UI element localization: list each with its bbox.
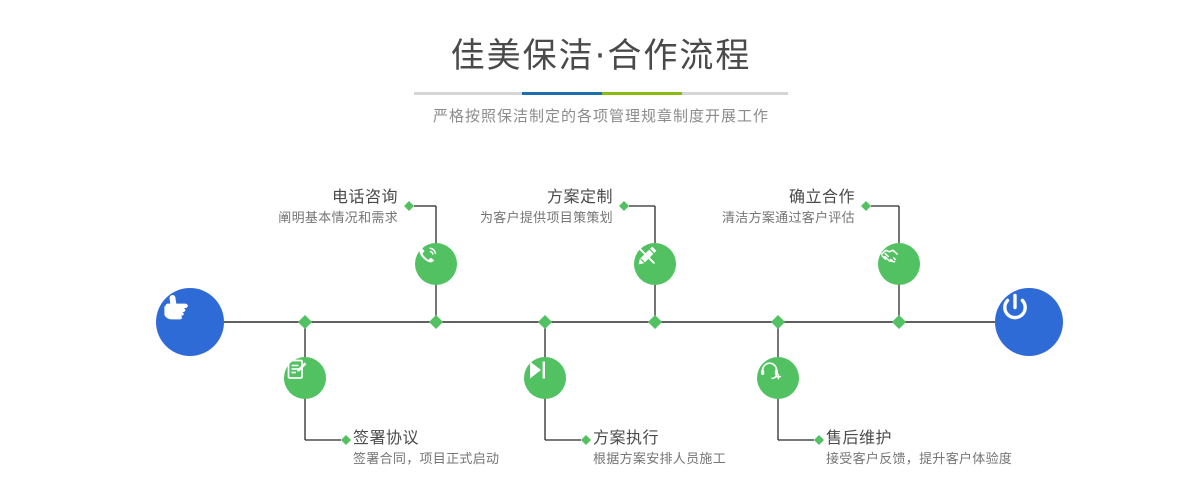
step-desc: 为客户提供项目策策划 [480,209,613,229]
step-label-plan-customization: 方案定制 为客户提供项目策策划 [480,186,613,229]
label-diamond [341,435,351,445]
diamond-marker [429,315,443,329]
step-label-after-sales-support: 售后维护 接受客户反馈，提升客户体验度 [826,427,1012,470]
step-title: 电话咨询 [278,186,398,208]
flow-node-plan-customization[interactable] [634,243,676,285]
step-desc: 根据方案安排人员施工 [593,450,726,470]
flow-diagram: 电话咨询 阐明基本情况和需求 方案定制 为客户提供项目策策划 确立合作 清洁方案… [0,0,1202,502]
step-title: 签署协议 [353,427,499,449]
step-title: 售后维护 [826,427,1012,449]
label-diamond [814,435,824,445]
cooperation-process-infographic: 佳美保洁·合作流程 严格按照保洁制定的各项管理规章制度开展工作 [0,0,1202,502]
step-title: 方案执行 [593,427,726,449]
label-diamond [404,201,414,211]
step-label-establish-cooperation: 确立合作 清洁方案通过客户评估 [722,186,855,229]
label-diamond [619,201,629,211]
flow-node-sign-agreement[interactable] [284,357,326,399]
step-title: 方案定制 [480,186,613,208]
flow-start-endpoint [156,288,224,356]
flow-node-plan-execution[interactable] [524,357,566,399]
step-label-sign-agreement: 签署协议 签署合同，项目正式启动 [353,427,499,470]
step-desc: 清洁方案通过客户评估 [722,209,855,229]
flow-node-after-sales-support[interactable] [757,357,799,399]
diamond-marker [648,315,662,329]
step-desc: 签署合同，项目正式启动 [353,450,499,470]
diamond-marker [892,315,906,329]
flow-end-endpoint [995,288,1063,356]
step-label-phone-consultation: 电话咨询 阐明基本情况和需求 [278,186,398,229]
label-diamond [861,201,871,211]
flow-node-phone-consultation[interactable] [415,243,457,285]
step-desc: 接受客户反馈，提升客户体验度 [826,450,1012,470]
diamond-marker [771,315,785,329]
label-diamond [581,435,591,445]
label-diamond-markers [341,201,871,445]
diamond-marker [298,315,312,329]
step-desc: 阐明基本情况和需求 [278,209,398,229]
flow-node-establish-cooperation[interactable] [878,243,920,285]
step-title: 确立合作 [722,186,855,208]
step-label-plan-execution: 方案执行 根据方案安排人员施工 [593,427,726,470]
diamond-marker [538,315,552,329]
